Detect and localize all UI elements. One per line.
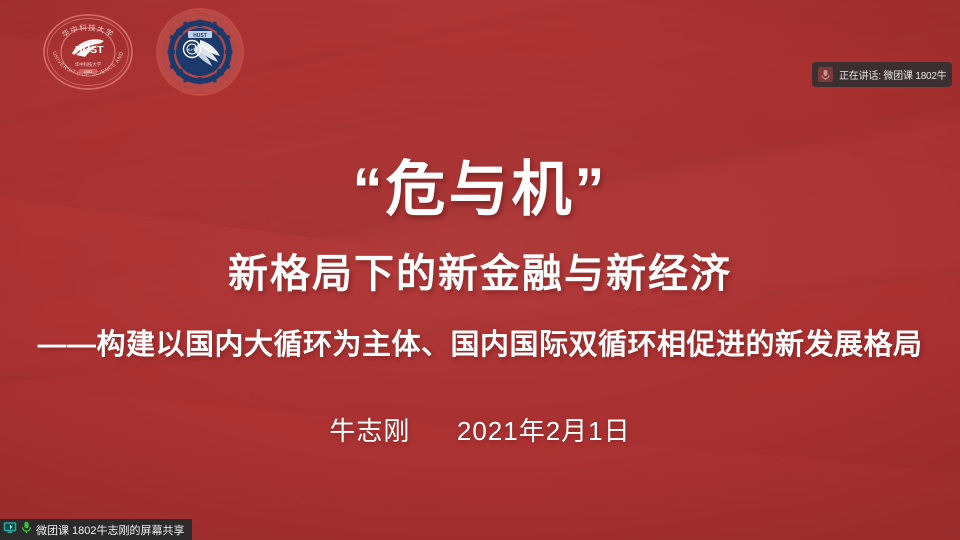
- slide-byline: 牛志刚 2021年2月1日: [0, 411, 960, 448]
- presentation-slide: 华中科技大学 UNIVERSITY OF SCIENCE AND HUST 华中…: [0, 0, 960, 540]
- screen-share-label: 微团课 1802牛志刚的屏幕共享: [36, 522, 185, 538]
- presentation-date: 2021年2月1日: [457, 416, 631, 446]
- svg-text:HUST: HUST: [75, 44, 104, 56]
- speaker-label: 正在讲话: 微团课 1802牛志刚: [839, 67, 946, 82]
- slide-main-title: “危与机”: [0, 158, 960, 223]
- author-name: 牛志刚: [329, 416, 410, 446]
- hust-seal-logo: 华中科技大学 UNIVERSITY OF SCIENCE AND HUST 华中…: [42, 6, 134, 98]
- speaker-avatar-icon: [818, 67, 833, 82]
- svg-text:HUST: HUST: [193, 33, 207, 39]
- microphone-icon: [21, 521, 32, 539]
- screen-share-status-bar[interactable]: 微团课 1802牛志刚的屏幕共享: [0, 519, 192, 540]
- svg-text:华中科技大学: 华中科技大学: [75, 61, 102, 68]
- screen-share-icon: [3, 521, 17, 539]
- svg-text:1953: 1953: [84, 70, 92, 74]
- slide-subtitle: 新格局下的新金融与新经济: [0, 241, 960, 299]
- slide-third-line: ——构建以国内大循环为主体、国内国际双循环相促进的新发展格局: [0, 321, 960, 363]
- logo-group: 华中科技大学 UNIVERSITY OF SCIENCE AND HUST 华中…: [42, 6, 246, 98]
- svg-text:HUST: HUST: [187, 47, 198, 52]
- active-speaker-overlay[interactable]: 正在讲话: 微团课 1802牛志刚: [812, 62, 952, 87]
- svg-text:华中科技大学: 华中科技大学: [60, 22, 116, 39]
- slide-title-block: “危与机” 新格局下的新金融与新经济 ——构建以国内大循环为主体、国内国际双循环…: [0, 158, 960, 448]
- seee-gear-logo: 华中科技大学电气与电子工程学院 School of Electrical and…: [154, 6, 246, 98]
